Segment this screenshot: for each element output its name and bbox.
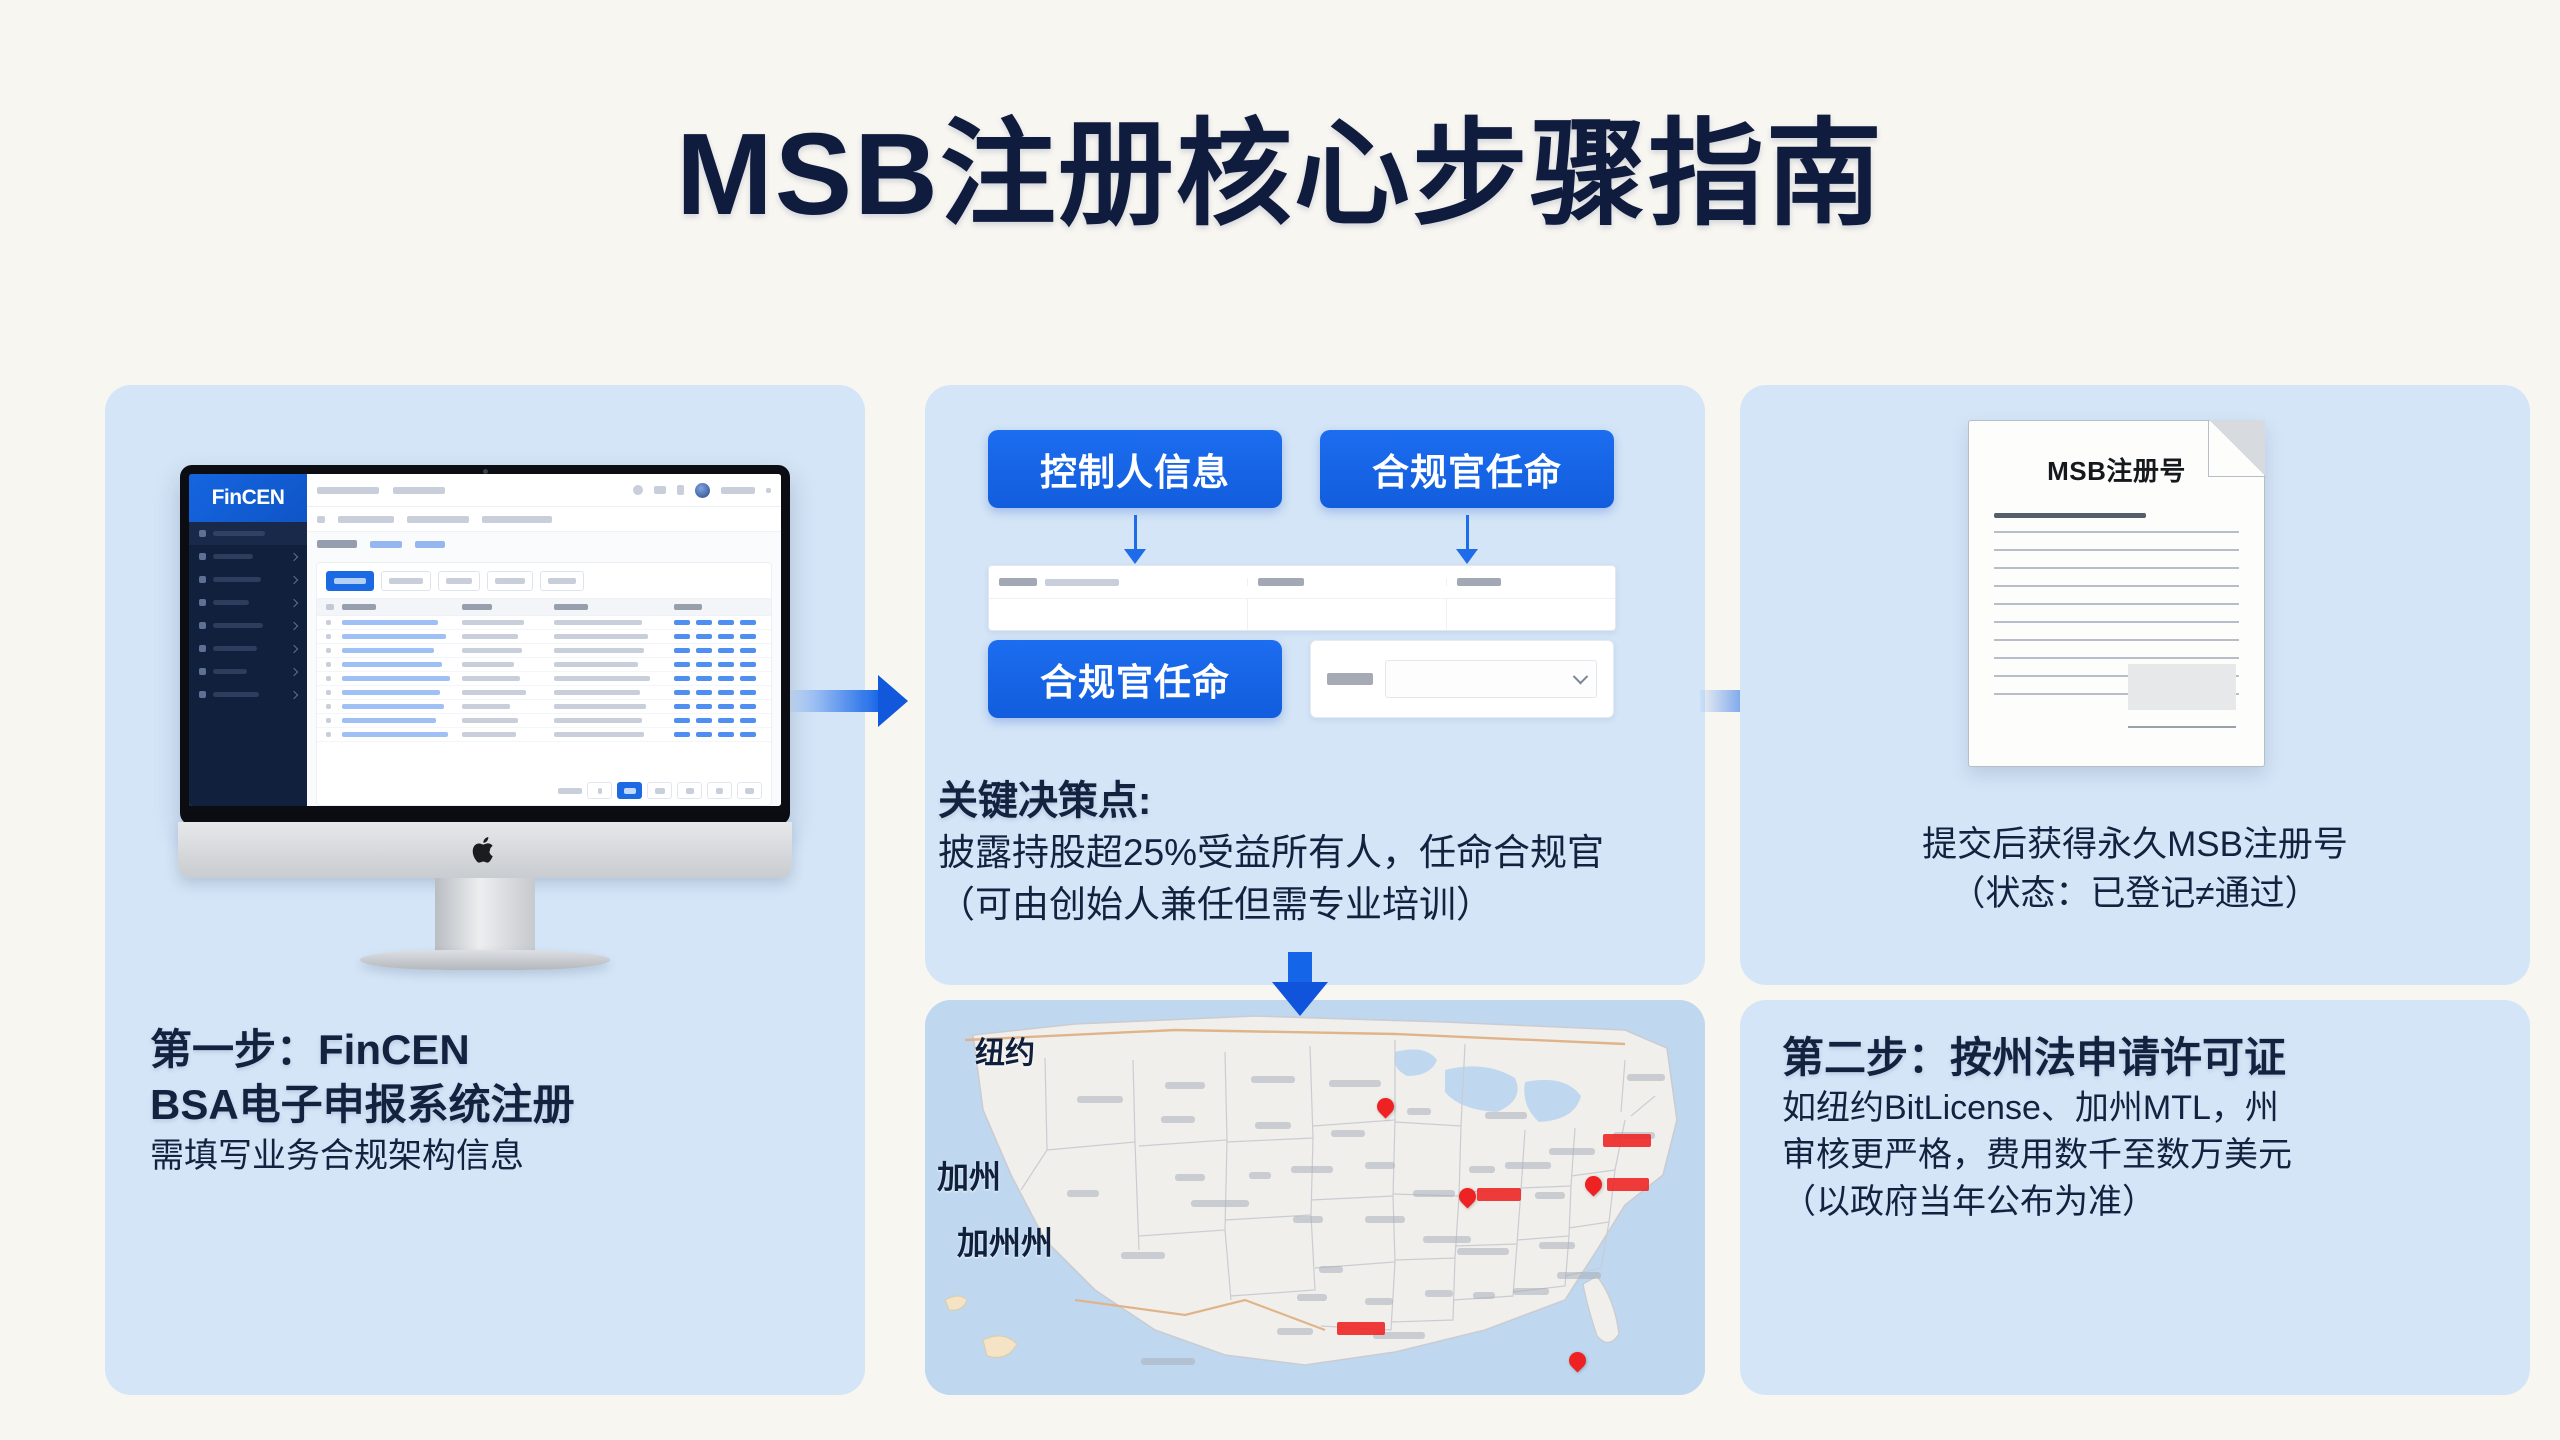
chevron-down-icon xyxy=(290,598,298,606)
button-compliance-officer-bottom[interactable]: 合规官任命 xyxy=(988,640,1282,718)
sidebar-icon xyxy=(199,622,206,629)
table-row[interactable] xyxy=(317,686,771,700)
sidebar-item[interactable] xyxy=(189,545,307,568)
page-jump[interactable] xyxy=(707,782,732,799)
bell-icon[interactable] xyxy=(677,485,684,495)
form-table-cell[interactable] xyxy=(1446,599,1615,630)
topbar-title xyxy=(317,487,379,494)
page-next[interactable] xyxy=(647,782,672,799)
form-table-body-row[interactable] xyxy=(989,598,1615,630)
breadcrumb xyxy=(307,507,781,532)
step-two-line2: 审核更严格，费用数千至数万美元 xyxy=(1782,1132,2292,1179)
registration-document: MSB注册号 xyxy=(1968,420,2265,767)
filter-chip[interactable] xyxy=(381,571,431,591)
result-line2: （状态：已登记≠通过） xyxy=(1740,869,2530,918)
table-header xyxy=(317,598,771,616)
table-row[interactable] xyxy=(317,714,771,728)
step-two-heading: 第二步：按州法申请许可证 xyxy=(1782,1030,2292,1085)
map-marker-label xyxy=(1477,1188,1521,1201)
pagination xyxy=(317,776,771,805)
caption-key-decision: 关键决策点: 披露持股超25%受益所有人，任命合规官 （可由创始人兼任但需专业培… xyxy=(938,775,1604,931)
sidebar-item-label xyxy=(213,531,265,536)
topbar-subtitle xyxy=(393,487,445,494)
tab-item[interactable] xyxy=(415,541,445,548)
table-row[interactable] xyxy=(317,728,771,742)
table-row[interactable] xyxy=(317,630,771,644)
form-table-header-cell xyxy=(1446,578,1615,586)
table-row[interactable] xyxy=(317,644,771,658)
document-rule xyxy=(1994,621,2239,623)
chevron-down-icon xyxy=(290,575,298,583)
page-current[interactable] xyxy=(617,782,642,799)
chevron-down-icon xyxy=(290,644,298,652)
table-row[interactable] xyxy=(317,658,771,672)
sidebar-icon xyxy=(199,576,206,583)
sidebar-icon xyxy=(199,668,206,675)
caption-step-two: 第二步：按州法申请许可证 如纽约BitLicense、加州MTL，州 审核更严格… xyxy=(1782,1030,2292,1226)
sidebar-item[interactable] xyxy=(189,614,307,637)
user-name xyxy=(721,487,755,494)
sidebar-item-label xyxy=(213,692,259,697)
monitor-chin xyxy=(178,822,792,878)
sidebar-item[interactable] xyxy=(189,637,307,660)
form-table-header-cell xyxy=(1247,578,1446,586)
form-table-cell[interactable] xyxy=(989,599,1247,630)
select-input[interactable] xyxy=(1385,660,1597,698)
pagination-total xyxy=(558,788,582,794)
arrow-left-to-middle xyxy=(790,675,908,727)
result-line1: 提交后获得永久MSB注册号 xyxy=(1740,820,2530,869)
sidebar-item[interactable] xyxy=(189,683,307,706)
fincen-logo: FinCEN xyxy=(189,474,307,522)
monitor-stand-neck xyxy=(435,878,535,956)
filter-chip-group xyxy=(317,563,771,598)
document-rule xyxy=(1994,531,2239,533)
desktop-monitor: FinCEN xyxy=(180,465,790,825)
document-title: MSB注册号 xyxy=(1969,451,2264,488)
chevron-down-icon xyxy=(290,667,298,675)
sidebar-icon xyxy=(199,553,206,560)
chevron-down-icon xyxy=(290,690,298,698)
help-icon[interactable] xyxy=(633,485,643,495)
button-compliance-officer-top[interactable]: 合规官任命 xyxy=(1320,430,1614,508)
apple-logo-icon xyxy=(472,836,498,864)
table-row[interactable] xyxy=(317,672,771,686)
step-two-line3: （以政府当年公布为准） xyxy=(1782,1179,2292,1226)
apps-icon[interactable] xyxy=(654,486,666,494)
page-last[interactable] xyxy=(737,782,762,799)
document-rule xyxy=(1994,603,2239,605)
filter-chip[interactable] xyxy=(540,571,584,591)
table-row[interactable] xyxy=(317,616,771,630)
arrow-middle-to-map xyxy=(1272,952,1328,1016)
select-label xyxy=(1327,673,1373,685)
topbar-actions xyxy=(633,483,771,498)
form-table-cell[interactable] xyxy=(1247,599,1446,630)
map-label-california-state: 加州州 xyxy=(957,1218,1053,1264)
sidebar-item-label xyxy=(213,577,261,582)
panel-state-map: 纽约 加州 加州州 xyxy=(925,1000,1705,1395)
tab-item[interactable] xyxy=(370,541,402,548)
chevron-down-icon xyxy=(290,552,298,560)
filter-chip-active[interactable] xyxy=(326,571,374,591)
step-two-line1: 如纽约BitLicense、加州MTL，州 xyxy=(1782,1085,2292,1132)
document-rule xyxy=(1994,567,2239,569)
sidebar-item[interactable] xyxy=(189,522,307,545)
document-rule xyxy=(1994,585,2239,587)
content-card xyxy=(316,562,772,806)
map-marker-label xyxy=(1603,1134,1651,1147)
page-size[interactable] xyxy=(677,782,702,799)
sidebar-item[interactable] xyxy=(189,591,307,614)
document-signature-line xyxy=(2128,726,2236,728)
sidebar-item[interactable] xyxy=(189,660,307,683)
sidebar-icon xyxy=(199,645,206,652)
form-table xyxy=(988,565,1616,631)
arrow-down-officer-to-table xyxy=(1454,515,1480,564)
button-controller-info[interactable]: 控制人信息 xyxy=(988,430,1282,508)
tab-active[interactable] xyxy=(317,540,357,548)
tab-bar xyxy=(307,532,781,556)
document-rule xyxy=(1994,657,2239,659)
sidebar-item[interactable] xyxy=(189,568,307,591)
form-table-header-cell xyxy=(989,578,1247,586)
page-title: MSB注册核心步骤指南 xyxy=(0,80,2560,248)
map-label-new-york: 纽约 xyxy=(975,1028,1035,1072)
sidebar-icon xyxy=(199,599,206,606)
sidebar-icon xyxy=(199,530,206,537)
sidebar-item-label xyxy=(213,646,257,651)
table-row[interactable] xyxy=(317,700,771,714)
document-rule xyxy=(1994,639,2239,641)
document-rule xyxy=(1994,549,2239,551)
key-decision-line1: 披露持股超25%受益所有人，任命合规官 xyxy=(938,827,1604,879)
monitor-screen: FinCEN xyxy=(189,474,781,806)
infographic-root: MSB注册核心步骤指南 FinCEN xyxy=(0,0,2560,1440)
page-prev[interactable] xyxy=(587,782,612,799)
step-one-heading-line2: BSA电子申报系统注册 xyxy=(150,1077,575,1132)
document-stamp xyxy=(2128,664,2236,710)
caption-registration-result: 提交后获得永久MSB注册号 （状态：已登记≠通过） xyxy=(1740,820,2530,918)
app-topbar xyxy=(307,474,781,507)
caption-step-one: 第一步：FinCEN BSA电子申报系统注册 需填写业务合规架构信息 xyxy=(150,1022,575,1180)
form-table-header-row xyxy=(989,566,1615,598)
filter-chip[interactable] xyxy=(438,571,480,591)
chevron-down-icon xyxy=(1573,668,1589,684)
breadcrumb-item[interactable] xyxy=(482,516,552,523)
home-icon[interactable] xyxy=(317,516,325,523)
map-marker-label xyxy=(1337,1322,1385,1335)
sidebar-item-label xyxy=(213,669,247,674)
map-marker-label xyxy=(1607,1178,1649,1191)
step-one-heading-line1: 第一步：FinCEN xyxy=(150,1022,575,1077)
sidebar-item-label xyxy=(213,554,253,559)
map-label-california: 加州 xyxy=(937,1152,1001,1198)
sidebar-item-label xyxy=(213,600,249,605)
avatar[interactable] xyxy=(695,483,710,498)
us-map-graphic xyxy=(925,1000,1705,1395)
key-decision-line2: （可由创始人兼任但需专业培训） xyxy=(938,879,1604,931)
app-sidebar: FinCEN xyxy=(189,474,307,806)
key-decision-label: 关键决策点: xyxy=(938,775,1604,827)
select-card xyxy=(1310,640,1614,718)
chevron-down-icon[interactable] xyxy=(766,488,771,493)
arrow-down-owner-to-table xyxy=(1122,515,1148,564)
app-main xyxy=(307,474,781,806)
document-rule xyxy=(1994,513,2146,518)
monitor-stand-base xyxy=(360,950,610,970)
chevron-down-icon xyxy=(290,621,298,629)
breadcrumb-item[interactable] xyxy=(338,516,394,523)
sidebar-item-label xyxy=(213,623,263,628)
sidebar-icon xyxy=(199,691,206,698)
breadcrumb-item[interactable] xyxy=(407,516,469,523)
step-one-sub: 需填写业务合规架构信息 xyxy=(150,1133,575,1180)
filter-chip[interactable] xyxy=(487,571,533,591)
